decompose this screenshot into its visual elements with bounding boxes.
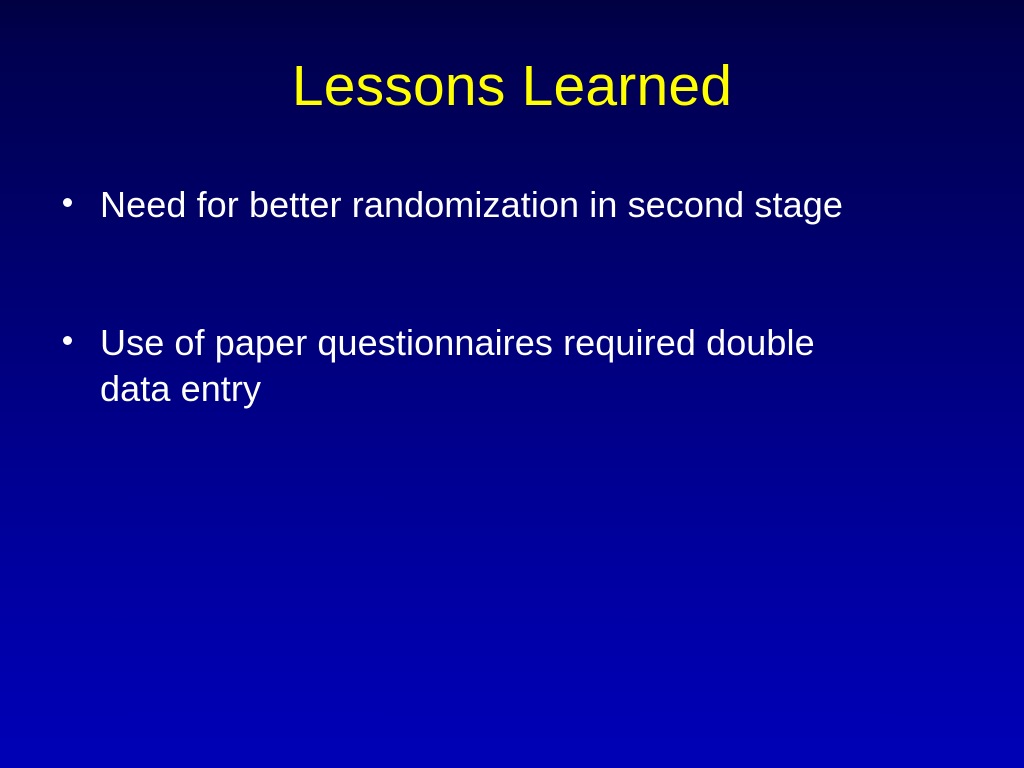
list-item-label: Use of paper questionnaires required dou… bbox=[100, 320, 860, 412]
slide-body-content: Need for better randomization in second … bbox=[57, 182, 957, 412]
presentation-slide: Lessons Learned Need for better randomiz… bbox=[0, 0, 1024, 768]
bullet-dot-icon bbox=[63, 336, 72, 345]
page-title: Lessons Learned bbox=[0, 54, 1024, 118]
bullet-dot-icon bbox=[63, 198, 72, 207]
list-item: Use of paper questionnaires required dou… bbox=[57, 320, 957, 412]
list-item: Need for better randomization in second … bbox=[57, 182, 957, 228]
list-item-label: Need for better randomization in second … bbox=[100, 182, 915, 228]
